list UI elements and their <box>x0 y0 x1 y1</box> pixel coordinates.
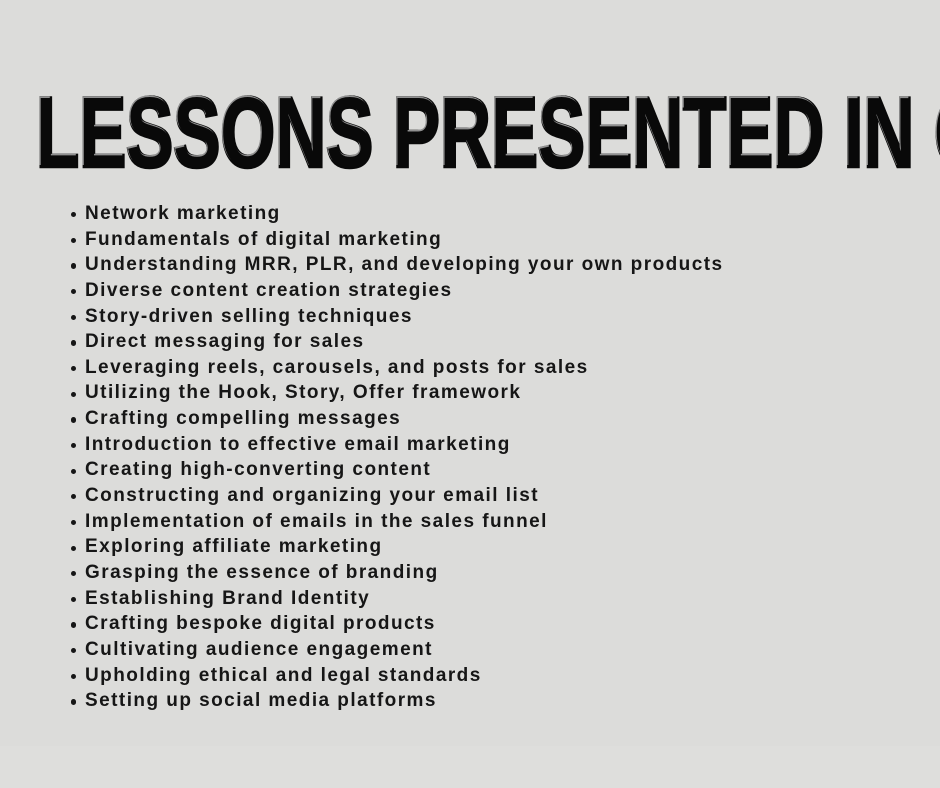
list-item-label: Establishing Brand Identity <box>85 586 370 612</box>
bullet-icon <box>71 366 76 371</box>
title-block: LESSONS PRESENTED IN CANVA <box>36 84 912 176</box>
list-item: Constructing and organizing your email l… <box>68 483 928 509</box>
list-item-label: Setting up social media platforms <box>85 688 437 714</box>
bullet-icon <box>71 417 76 422</box>
bullet-icon <box>71 571 76 576</box>
bullet-icon <box>71 597 76 602</box>
list-item-label: Implementation of emails in the sales fu… <box>85 509 548 535</box>
bullet-icon <box>71 520 76 525</box>
list-item-label: Creating high-converting content <box>85 457 431 483</box>
list-item: Network marketing <box>68 201 928 227</box>
list-item-label: Fundamentals of digital marketing <box>85 227 442 253</box>
background-band-bottom <box>0 746 940 788</box>
bullet-icon <box>71 546 76 551</box>
list-item-label: Grasping the essence of branding <box>85 560 439 586</box>
list-item: Story-driven selling techniques <box>68 304 928 330</box>
bullet-icon <box>71 699 76 704</box>
bullet-icon <box>71 648 76 653</box>
list-item: Understanding MRR, PLR, and developing y… <box>68 252 928 278</box>
list-item: Crafting bespoke digital products <box>68 611 928 637</box>
list-item-label: Introduction to effective email marketin… <box>85 432 511 458</box>
list-item: Establishing Brand Identity <box>68 586 928 612</box>
list-item-label: Crafting bespoke digital products <box>85 611 436 637</box>
list-item-label: Story-driven selling techniques <box>85 304 413 330</box>
bullet-icon <box>71 212 76 217</box>
bullet-icon <box>71 263 76 268</box>
slide-canvas: LESSONS PRESENTED IN CANVA Network marke… <box>0 0 940 788</box>
bullet-icon <box>71 443 76 448</box>
list-item-label: Leveraging reels, carousels, and posts f… <box>85 355 589 381</box>
list-item-label: Cultivating audience engagement <box>85 637 433 663</box>
bullet-icon <box>71 674 76 679</box>
list-item: Leveraging reels, carousels, and posts f… <box>68 355 928 381</box>
list-item: Cultivating audience engagement <box>68 637 928 663</box>
list-item: Upholding ethical and legal standards <box>68 663 928 689</box>
list-item-label: Upholding ethical and legal standards <box>85 663 482 689</box>
list-item: Introduction to effective email marketin… <box>68 432 928 458</box>
list-item: Setting up social media platforms <box>68 688 928 714</box>
bullet-icon <box>71 315 76 320</box>
list-item: Diverse content creation strategies <box>68 278 928 304</box>
list-item: Implementation of emails in the sales fu… <box>68 509 928 535</box>
list-item: Exploring affiliate marketing <box>68 534 928 560</box>
list-item-label: Crafting compelling messages <box>85 406 401 432</box>
list-item: Direct messaging for sales <box>68 329 928 355</box>
bullet-icon <box>71 392 76 397</box>
list-item: Crafting compelling messages <box>68 406 928 432</box>
bullet-icon <box>71 494 76 499</box>
bullet-icon <box>71 289 76 294</box>
bullet-icon <box>71 622 76 627</box>
list-item: Creating high-converting content <box>68 457 928 483</box>
page-title: LESSONS PRESENTED IN CANVA <box>36 84 680 183</box>
list-item-label: Exploring affiliate marketing <box>85 534 383 560</box>
list-item: Fundamentals of digital marketing <box>68 227 928 253</box>
list-item: Grasping the essence of branding <box>68 560 928 586</box>
list-item-label: Network marketing <box>85 201 281 227</box>
list-item-label: Utilizing the Hook, Story, Offer framewo… <box>85 380 521 406</box>
list-item-label: Constructing and organizing your email l… <box>85 483 539 509</box>
list-item-label: Understanding MRR, PLR, and developing y… <box>85 252 724 278</box>
list-item: Utilizing the Hook, Story, Offer framewo… <box>68 380 928 406</box>
lessons-list: Network marketingFundamentals of digital… <box>68 201 928 714</box>
list-item-label: Direct messaging for sales <box>85 329 365 355</box>
bullet-icon <box>71 340 76 345</box>
bullet-icon <box>71 238 76 243</box>
list-item-label: Diverse content creation strategies <box>85 278 453 304</box>
bullet-icon <box>71 469 76 474</box>
